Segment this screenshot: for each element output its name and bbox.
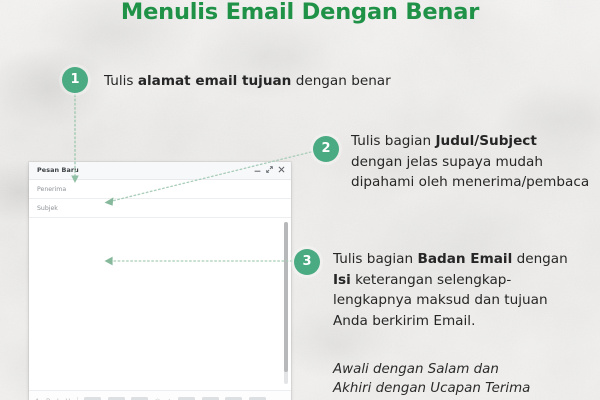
closing-note-line-1: Awali dengan Salam dan: [333, 360, 583, 379]
closing-note-line-2: Akhiri dengan Ucapan Terima: [333, 379, 583, 398]
step-1-segment-2: dengan benar: [291, 73, 390, 89]
compose-toolbar[interactable]: A B I U ○ △: [29, 391, 291, 400]
maximize-icon[interactable]: [266, 166, 273, 173]
subject-field-label: Subjek: [37, 205, 58, 212]
step-1-badge[interactable]: 1: [62, 67, 88, 93]
compose-window[interactable]: Pesan Baru: [29, 162, 291, 400]
step-3-segment-0: Tulis bagian: [333, 251, 417, 267]
step-3-badge[interactable]: 3: [294, 249, 320, 275]
step-3-text: Tulis bagian Badan Email dengan Isi kete…: [333, 249, 583, 331]
recipient-field[interactable]: Penerima: [29, 180, 291, 199]
step-2-text: Tulis bagian Judul/Subject dengan jelas …: [351, 131, 591, 193]
step-3-segment-1: Badan Email: [417, 251, 512, 267]
step-3-segment-3: Isi: [333, 272, 351, 288]
step-2-segment-1: Judul/Subject: [435, 133, 536, 149]
step-1-segment-0: Tulis: [104, 73, 138, 89]
step-3-segment-4: keterangan selengkap-lengkapnya maksud d…: [333, 272, 548, 329]
window-controls: [254, 166, 285, 173]
minimize-icon[interactable]: [254, 166, 261, 173]
step-2-badge[interactable]: 2: [313, 136, 339, 162]
close-icon[interactable]: [278, 166, 285, 173]
compose-titlebar[interactable]: Pesan Baru: [29, 162, 291, 180]
step-1-text: Tulis alamat email tujuan dengan benar: [104, 71, 404, 92]
body-scrollbar-thumb[interactable]: [284, 222, 288, 372]
page-title: Menulis Email Dengan Benar: [0, 0, 600, 25]
step-2-segment-2: dengan jelas supaya mudah dipahami oleh …: [351, 154, 589, 191]
email-body-field[interactable]: [29, 218, 291, 391]
closing-note: Awali dengan Salam dan Akhiri dengan Uca…: [333, 360, 583, 398]
compose-window-title: Pesan Baru: [37, 166, 79, 174]
body-scrollbar[interactable]: [284, 222, 288, 384]
recipient-field-label: Penerima: [37, 186, 66, 193]
infographic-canvas: Menulis Email Dengan Benar Pesan Baru: [0, 0, 600, 400]
step-3-segment-2: dengan: [512, 251, 568, 267]
subject-field[interactable]: Subjek: [29, 199, 291, 218]
step-2-segment-0: Tulis bagian: [351, 133, 435, 149]
step-1-segment-1: alamat email tujuan: [138, 73, 292, 89]
